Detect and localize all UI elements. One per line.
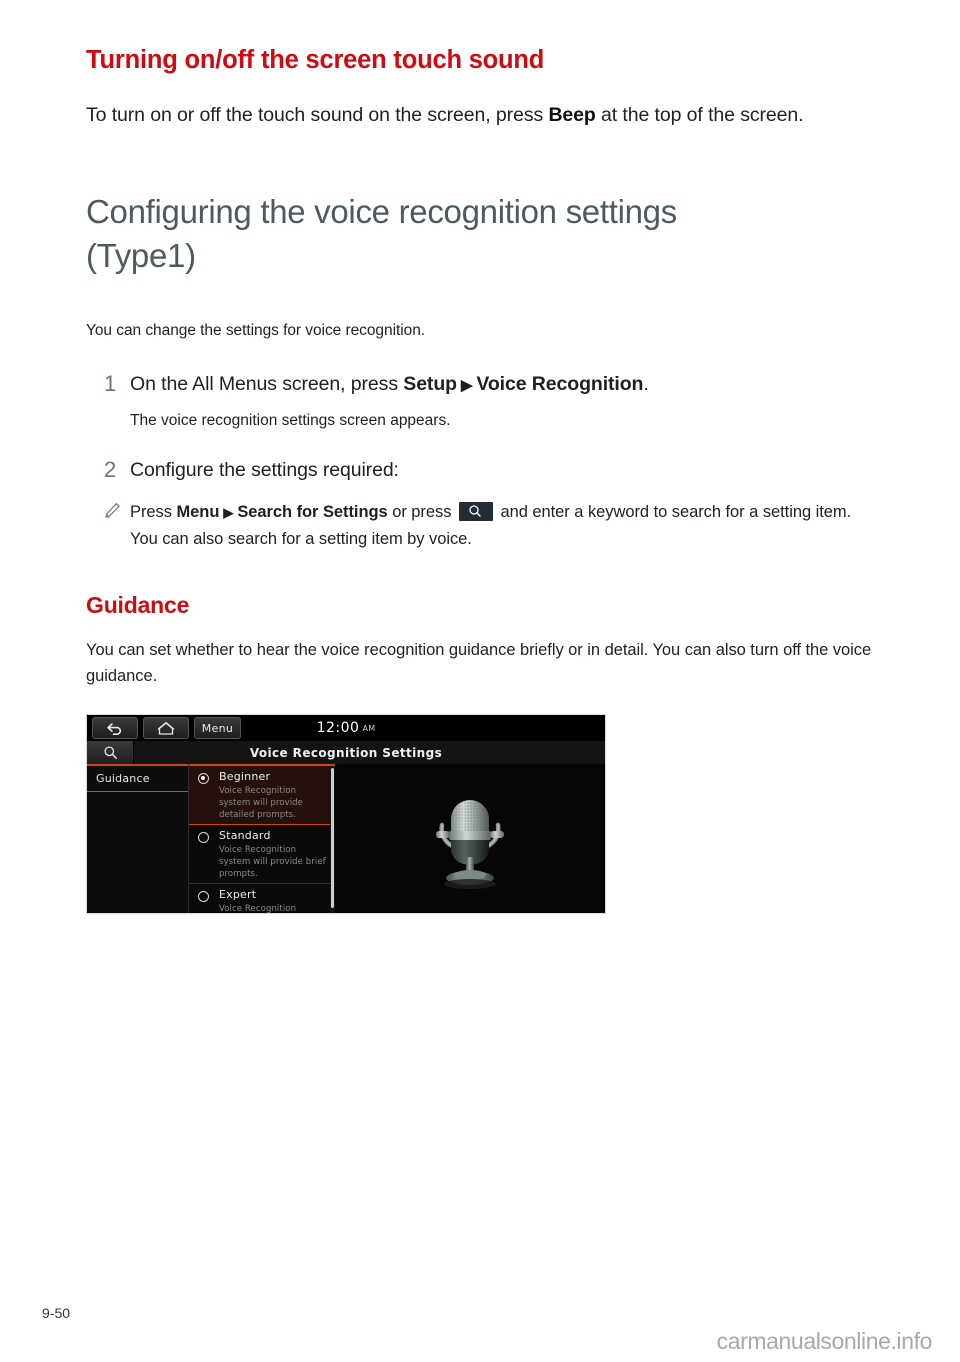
touch-sound-suffix: at the top of the screen.: [596, 104, 804, 126]
hmi-back-button[interactable]: [92, 717, 138, 739]
option-description: Voice Recognition system will not provid…: [219, 903, 329, 914]
microphone-icon: [422, 781, 518, 899]
hmi-illustration-pane: [335, 764, 605, 914]
hmi-screen-title: Voice Recognition Settings: [87, 741, 605, 764]
hmi-sidebar: Guidance: [87, 764, 189, 914]
chapter-heading-line1: Configuring the voice recognition settin…: [86, 193, 677, 230]
list-item[interactable]: Expert Voice Recognition system will not…: [189, 884, 335, 914]
step-1-arrow-icon: ▶: [457, 377, 476, 394]
note-bold-search-for-settings: Search for Settings: [237, 503, 387, 521]
manual-page: Turning on/off the screen touch sound To…: [0, 0, 960, 1362]
step-2-number: 2: [104, 455, 130, 485]
sidebar-item-guidance[interactable]: Guidance: [87, 764, 188, 792]
list-scrollbar[interactable]: [330, 766, 335, 914]
hmi-menu-button[interactable]: Menu: [194, 717, 241, 739]
hmi-clock-ampm: AM: [362, 724, 375, 733]
option-description: Voice Recognition system will provide de…: [219, 785, 329, 821]
content-column: Turning on/off the screen touch sound To…: [86, 46, 876, 689]
step-1-sub: The voice recognition settings screen ap…: [130, 409, 876, 433]
note-arrow-icon: ▶: [219, 505, 237, 520]
hmi-home-button[interactable]: [143, 717, 189, 739]
search-icon[interactable]: [459, 502, 493, 521]
option-label: Standard: [219, 829, 329, 843]
chapter-heading-line2: (Type1): [86, 237, 196, 274]
scrollbar-thumb[interactable]: [331, 768, 334, 908]
hmi-top-bar: Menu 12:00 AM: [87, 715, 605, 741]
step-1-text: On the All Menus screen, press Setup▶Voi…: [130, 369, 649, 401]
step-1: 1 On the All Menus screen, press Setup▶V…: [104, 369, 876, 401]
hmi-screenshot: Menu 12:00 AM Voice Recognition Settings…: [86, 714, 606, 914]
hmi-menu-label: Menu: [202, 722, 233, 735]
option-label: Expert: [219, 888, 329, 902]
step-2-text: Configure the settings required:: [130, 455, 399, 485]
guidance-heading: Guidance: [86, 592, 876, 619]
hmi-clock-time: 12:00: [317, 720, 360, 736]
step-1-prefix: On the All Menus screen, press: [130, 373, 403, 395]
chapter-heading: Configuring the voice recognition settin…: [86, 190, 876, 278]
step-1-bold-setup: Setup: [403, 373, 457, 395]
pencil-icon: [104, 499, 130, 524]
touch-sound-prefix: To turn on or off the touch sound on the…: [86, 104, 548, 126]
note-bold-menu: Menu: [176, 503, 219, 521]
search-icon: [103, 745, 118, 760]
touch-sound-paragraph: To turn on or off the touch sound on the…: [86, 99, 876, 132]
radio-button-beginner[interactable]: [198, 773, 209, 784]
back-arrow-icon: [105, 721, 125, 735]
step-2: 2 Configure the settings required:: [104, 455, 876, 485]
radio-button-expert[interactable]: [198, 891, 209, 902]
step-1-bold-voice-recognition: Voice Recognition: [476, 373, 643, 395]
home-icon: [157, 721, 175, 736]
list-item[interactable]: Beginner Voice Recognition system will p…: [189, 766, 335, 825]
note-mid: or press: [388, 503, 456, 521]
watermark: carmanualsonline.info: [717, 1328, 932, 1355]
step-1-suffix: .: [643, 373, 648, 395]
note-text: Press Menu▶Search for Settings or press …: [130, 499, 876, 552]
hmi-body: Guidance Beginner Voice Recognition syst…: [87, 764, 605, 914]
page-title: Turning on/off the screen touch sound: [86, 46, 876, 75]
hmi-option-list: Beginner Voice Recognition system will p…: [189, 764, 335, 914]
chapter-intro: You can change the settings for voice re…: [86, 318, 876, 343]
radio-button-standard[interactable]: [198, 832, 209, 843]
list-item[interactable]: Standard Voice Recognition system will p…: [189, 825, 335, 884]
sidebar-item-guidance-label: Guidance: [96, 772, 150, 785]
note-prefix: Press: [130, 503, 176, 521]
option-description: Voice Recognition system will provide br…: [219, 844, 329, 880]
hmi-search-button[interactable]: [87, 741, 134, 764]
page-number: 9-50: [42, 1305, 70, 1321]
step-1-number: 1: [104, 369, 130, 399]
option-label: Beginner: [219, 770, 329, 784]
note-tip: Press Menu▶Search for Settings or press …: [104, 499, 876, 552]
beep-label: Beep: [548, 104, 595, 126]
hmi-title-bar: Voice Recognition Settings: [87, 741, 605, 764]
guidance-description: You can set whether to hear the voice re…: [86, 637, 876, 689]
